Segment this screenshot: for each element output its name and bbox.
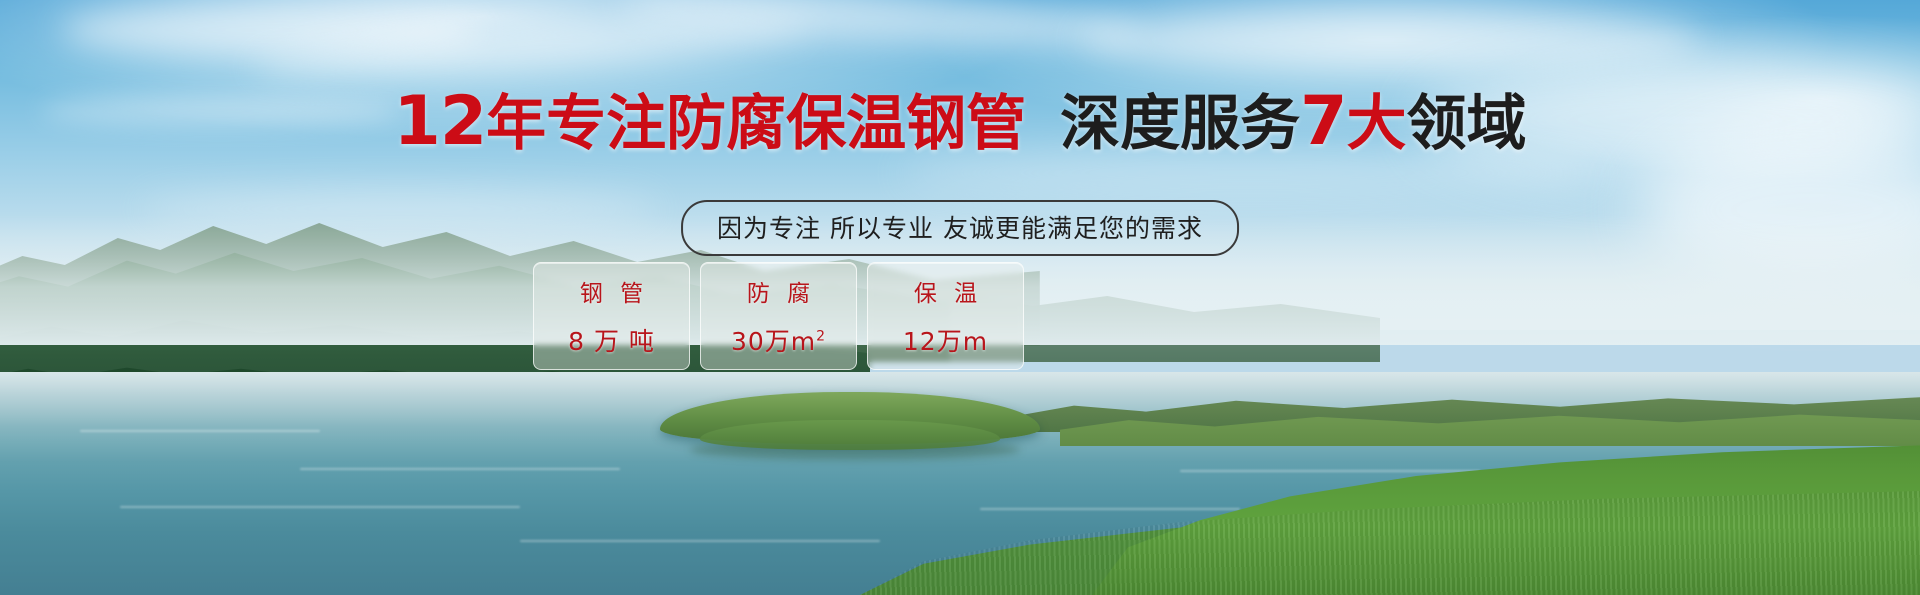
stat-value: 30万m2 (731, 322, 826, 358)
headline-part-1: 年专注防腐保温钢管 (486, 89, 1026, 159)
headline-part-4: 领域 (1406, 89, 1526, 159)
hero-banner: 12年专注防腐保温钢管深度服务7大领域 因为专注 所以专业 友诚更能满足您的需求… (0, 0, 1920, 595)
stat-label: 防 腐 (742, 274, 815, 308)
stat-value: 8 万 吨 (568, 322, 655, 358)
stat-label: 钢 管 (575, 274, 648, 308)
stat-card-insulation[interactable]: 保 温 12万m (867, 262, 1024, 370)
stat-value-exponent: 2 (816, 329, 826, 345)
stat-value-text: 12万m (903, 327, 988, 356)
stat-label: 保 温 (909, 274, 982, 308)
stat-value-text: 8 万 吨 (568, 327, 655, 356)
stat-value: 12万m (903, 322, 988, 358)
headline-part-3: 大 (1346, 89, 1406, 159)
stats-card-group: 钢 管 8 万 吨 防 腐 30万m2 保 温 12万m (533, 262, 1024, 370)
page-title: 12年专注防腐保温钢管深度服务7大领域 (0, 88, 1920, 156)
headline-fields-number: 7 (1300, 82, 1346, 161)
stat-value-text: 30万m (731, 327, 816, 356)
subtitle-pill: 因为专注 所以专业 友诚更能满足您的需求 (681, 200, 1239, 256)
headline-part-2: 深度服务 (1060, 89, 1300, 159)
headline-years-number: 12 (394, 82, 487, 161)
subtitle-text: 因为专注 所以专业 友诚更能满足您的需求 (717, 214, 1203, 243)
stat-card-steel-pipe[interactable]: 钢 管 8 万 吨 (533, 262, 690, 370)
banner-content: 12年专注防腐保温钢管深度服务7大领域 因为专注 所以专业 友诚更能满足您的需求… (0, 0, 1920, 595)
stat-card-anticorrosion[interactable]: 防 腐 30万m2 (700, 262, 857, 370)
